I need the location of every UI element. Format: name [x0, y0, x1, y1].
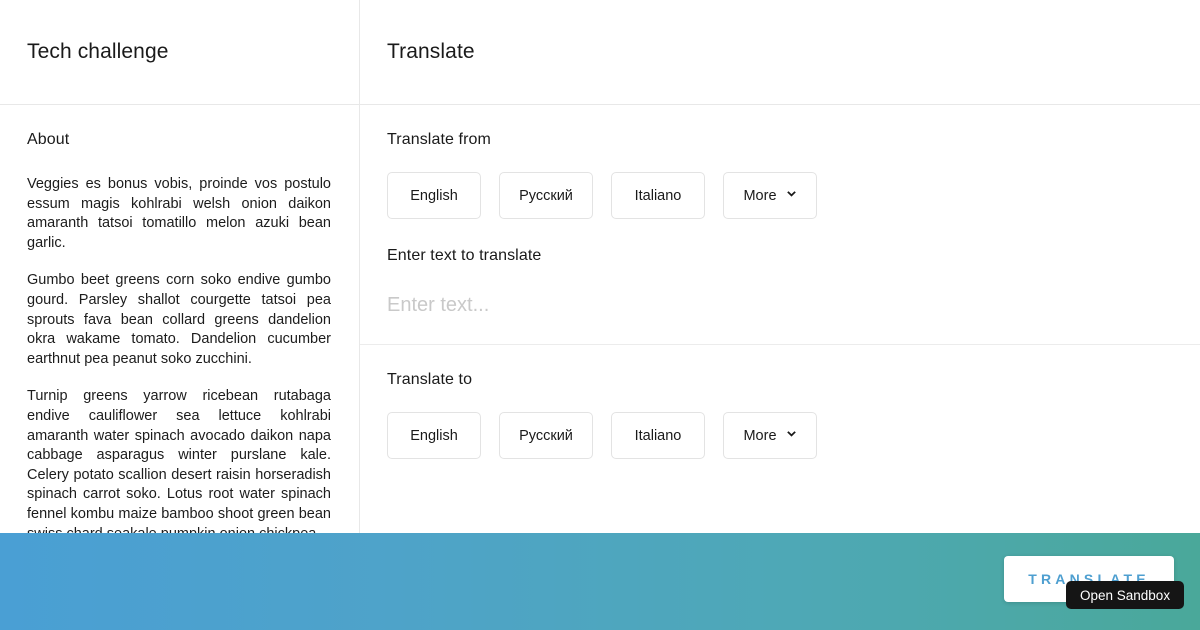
chevron-down-icon: [786, 189, 797, 200]
about-heading: About: [27, 131, 331, 149]
lang-to-russian-button[interactable]: Русский: [499, 412, 593, 459]
lang-to-english-label: English: [410, 428, 458, 444]
lang-from-italian-label: Italiano: [635, 188, 682, 204]
open-sandbox-button[interactable]: Open Sandbox: [1066, 581, 1184, 609]
lang-to-english-button[interactable]: English: [387, 412, 481, 459]
sidebar-header: Tech challenge: [0, 0, 359, 105]
translate-to-label: Translate to: [387, 371, 1173, 389]
about-paragraph: Gumbo beet greens corn soko endive gumbo…: [27, 271, 331, 369]
about-paragraph: Veggies es bonus vobis, proinde vos post…: [27, 175, 331, 253]
lang-from-more-button[interactable]: More: [723, 172, 817, 219]
lang-from-russian-label: Русский: [519, 188, 573, 204]
translate-from-language-row: English Русский Italiano More: [387, 172, 1173, 219]
app-root: Tech challenge About Veggies es bonus vo…: [0, 0, 1200, 630]
translate-input-block: Enter text to translate: [387, 247, 1173, 318]
lang-from-english-label: English: [410, 188, 458, 204]
main-header: Translate: [360, 0, 1200, 105]
lang-from-english-button[interactable]: English: [387, 172, 481, 219]
translate-text-input[interactable]: [387, 292, 1173, 318]
lang-to-more-label: More: [743, 428, 776, 444]
about-paragraph: Turnip greens yarrow ricebean rutabaga e…: [27, 387, 331, 544]
lang-to-more-button[interactable]: More: [723, 412, 817, 459]
lang-to-russian-label: Русский: [519, 428, 573, 444]
sidebar-title: Tech challenge: [27, 39, 169, 64]
translate-to-language-row: English Русский Italiano More: [387, 412, 1173, 459]
page-title: Translate: [387, 39, 475, 64]
lang-from-more-label: More: [743, 188, 776, 204]
translate-to-section: Translate to English Русский Italiano Mo…: [360, 345, 1200, 485]
chevron-down-icon: [786, 429, 797, 440]
lang-from-russian-button[interactable]: Русский: [499, 172, 593, 219]
translate-from-section: Translate from English Русский Italiano …: [360, 105, 1200, 345]
translate-from-label: Translate from: [387, 131, 1173, 149]
lang-to-italian-button[interactable]: Italiano: [611, 412, 705, 459]
lang-from-italian-button[interactable]: Italiano: [611, 172, 705, 219]
translate-input-label: Enter text to translate: [387, 247, 1173, 265]
lang-to-italian-label: Italiano: [635, 428, 682, 444]
sidebar-body: About Veggies es bonus vobis, proinde vo…: [0, 105, 359, 544]
